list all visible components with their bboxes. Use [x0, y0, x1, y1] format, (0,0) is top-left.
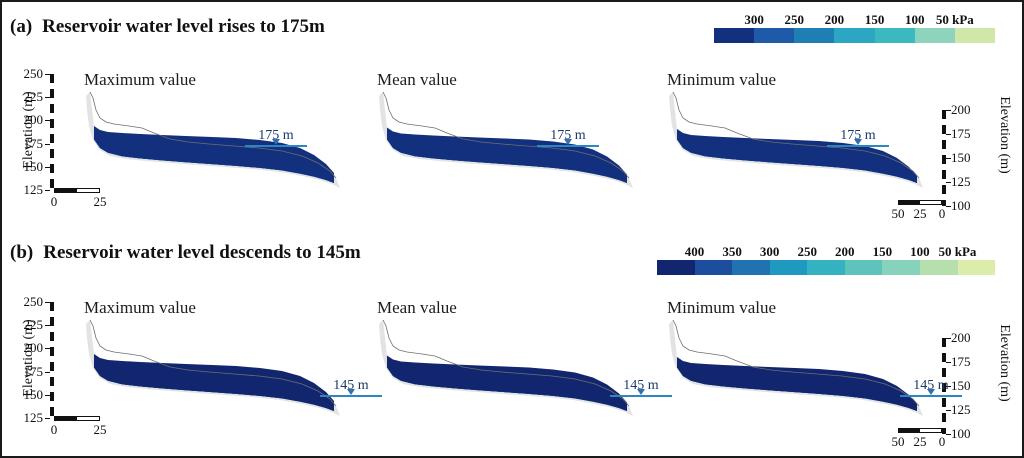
colorbar-segment — [732, 260, 770, 275]
water-level-line — [320, 395, 382, 397]
scalebar-right-panel-a: 50250 — [898, 200, 942, 221]
colorbar-segment — [958, 260, 996, 275]
axis-tick-label: 100 — [951, 198, 971, 214]
axis-tick-label: 125 — [951, 402, 971, 418]
axis-tick-label: 150 — [951, 378, 971, 394]
panel-b-title-text: Reservoir water level descends to 145m — [43, 242, 360, 263]
axis-tick-mark — [45, 325, 50, 326]
water-level-triangle-icon — [854, 139, 862, 145]
colorbar-tick-label: 400 — [685, 244, 705, 260]
figure-root: (a)Reservoir water level rises to 175m 3… — [0, 0, 1024, 458]
scalebar-tick-label: 0 — [939, 434, 946, 450]
colorbar-tick-label: 350 — [722, 244, 742, 260]
colorbar-segment — [845, 260, 883, 275]
right-axis-caption-b: Elevation (m) — [996, 315, 1012, 411]
left-axis-caption-b: Elevation (m) — [21, 310, 37, 406]
section-b-minimum — [667, 298, 925, 426]
left-axis-caption-a: Elevation (m) — [21, 82, 37, 178]
section-a-mean — [377, 70, 635, 198]
scalebar-tick-label: 50 — [892, 434, 905, 450]
axis-tick-label: 175 — [951, 354, 971, 370]
colorbar-segment — [875, 28, 915, 43]
axis-tick-label: 200 — [951, 102, 971, 118]
colorbar-b-bar — [657, 260, 995, 275]
colorbar-tick-label: 150 — [865, 12, 885, 28]
axis-tick-mark — [946, 182, 951, 183]
scalebar-right-a-ticks: 50250 — [898, 206, 942, 221]
colorbar-tick-label: 250 — [785, 12, 805, 28]
axis-tick-mark — [946, 110, 951, 111]
water-level-triangle-icon — [347, 389, 355, 395]
colorbar-segment — [714, 28, 754, 43]
water-level-triangle-icon — [272, 139, 280, 145]
colorbar-segment — [754, 28, 794, 43]
axis-tick-mark — [45, 372, 50, 373]
colorbar-segment — [657, 260, 695, 275]
scalebar-seg — [55, 189, 77, 192]
axis-tick-mark — [946, 338, 951, 339]
scalebar-seg — [920, 201, 941, 204]
colorbar-segment — [794, 28, 834, 43]
left-axis-line-a — [50, 74, 54, 190]
axis-tick-label: 125 — [951, 174, 971, 190]
axis-tick-mark — [946, 134, 951, 135]
subplot-a-maximum: Maximum value — [84, 70, 342, 198]
colorbar-tick-label: 100 — [910, 244, 930, 260]
water-level-triangle-icon — [927, 389, 935, 395]
scalebar-tick-label: 0 — [51, 422, 58, 438]
colorbar-tick-label: 150 — [873, 244, 893, 260]
axis-tick-mark — [946, 206, 951, 207]
scalebar-seg — [920, 429, 941, 432]
axis-tick-label: 250 — [24, 66, 44, 82]
subplot-a-mean: Mean value — [377, 70, 635, 198]
subplot-b-maximum: Maximum value — [84, 298, 342, 426]
left-axis-line-b — [50, 302, 54, 418]
axis-tick-label: 125 — [24, 182, 44, 198]
axis-tick-mark — [45, 97, 50, 98]
axis-tick-mark — [946, 158, 951, 159]
axis-tick-mark — [946, 434, 951, 435]
panel-b-tag: (b) — [10, 242, 33, 263]
scalebar-tick-label: 50 — [892, 206, 905, 222]
scalebar-right-panel-b: 50250 — [898, 428, 942, 449]
colorbar-segment — [770, 260, 808, 275]
subplot-b-minimum: Minimum value — [667, 298, 925, 426]
axis-tick-mark — [45, 144, 50, 145]
axis-tick-mark — [45, 418, 50, 419]
colorbar-segment — [915, 28, 955, 43]
section-a-minimum — [667, 70, 925, 198]
section-b-maximum — [84, 298, 342, 426]
right-axis-caption-a: Elevation (m) — [996, 87, 1012, 183]
axis-tick-label: 250 — [24, 294, 44, 310]
scalebar-right-b-ticks: 50250 — [898, 434, 942, 449]
axis-tick-label: 200 — [951, 330, 971, 346]
subplot-b-mean: Mean value — [377, 298, 635, 426]
colorbar-tick-label: 250 — [797, 244, 817, 260]
scalebar-tick-label: 0 — [51, 194, 58, 210]
axis-tick-label: 150 — [951, 150, 971, 166]
axis-tick-mark — [45, 120, 50, 121]
colorbar-panel-b: 40035030025020015010050 kPa — [657, 244, 995, 275]
colorbar-b-labels: 40035030025020015010050 kPa — [657, 244, 995, 260]
colorbar-tick-label: 50 kPa — [936, 12, 974, 28]
water-level-line — [610, 395, 672, 397]
scalebar-tick-label: 25 — [914, 206, 927, 222]
axis-tick-label: 125 — [24, 410, 44, 426]
axis-tick-mark — [45, 74, 50, 75]
water-level-line — [900, 395, 962, 397]
panel-a-title: (a)Reservoir water level rises to 175m — [10, 16, 325, 38]
scalebar-right-b-bar — [898, 428, 942, 433]
colorbar-segment — [807, 260, 845, 275]
colorbar-segment — [882, 260, 920, 275]
axis-tick-mark — [946, 410, 951, 411]
colorbar-segment — [695, 260, 733, 275]
water-level-line — [245, 145, 307, 147]
colorbar-a-bar — [714, 28, 995, 43]
colorbar-tick-label: 200 — [825, 12, 845, 28]
axis-tick-mark — [946, 362, 951, 363]
axis-tick-mark — [45, 167, 50, 168]
colorbar-panel-a: 30025020015010050 kPa — [714, 12, 995, 43]
colorbar-a-labels: 30025020015010050 kPa — [714, 12, 995, 28]
axis-tick-mark — [45, 190, 50, 191]
scalebar-seg — [55, 417, 77, 420]
panel-a-tag: (a) — [10, 16, 32, 37]
colorbar-segment — [834, 28, 874, 43]
colorbar-segment — [955, 28, 995, 43]
axis-tick-label: 100 — [951, 426, 971, 442]
subplot-a-minimum: Minimum value — [667, 70, 925, 198]
scalebar-right-a-bar — [898, 200, 942, 205]
axis-tick-mark — [45, 302, 50, 303]
axis-tick-mark — [45, 395, 50, 396]
scalebar-tick-label: 25 — [914, 434, 927, 450]
axis-tick-mark — [45, 348, 50, 349]
water-level-triangle-icon — [564, 139, 572, 145]
colorbar-tick-label: 300 — [760, 244, 780, 260]
colorbar-tick-label: 50 kPa — [938, 244, 976, 260]
axis-tick-label: 175 — [951, 126, 971, 142]
colorbar-tick-label: 300 — [744, 12, 764, 28]
water-level-triangle-icon — [637, 389, 645, 395]
colorbar-tick-label: 200 — [835, 244, 855, 260]
colorbar-segment — [920, 260, 958, 275]
scalebar-seg — [899, 429, 920, 432]
panel-b-title: (b)Reservoir water level descends to 145… — [10, 242, 361, 264]
section-a-maximum — [84, 70, 342, 198]
water-level-line — [537, 145, 599, 147]
scalebar-seg — [899, 201, 920, 204]
scalebar-tick-label: 0 — [939, 206, 946, 222]
colorbar-tick-label: 100 — [905, 12, 925, 28]
water-level-line — [827, 145, 889, 147]
section-b-mean — [377, 298, 635, 426]
panel-a-title-text: Reservoir water level rises to 175m — [42, 16, 325, 37]
